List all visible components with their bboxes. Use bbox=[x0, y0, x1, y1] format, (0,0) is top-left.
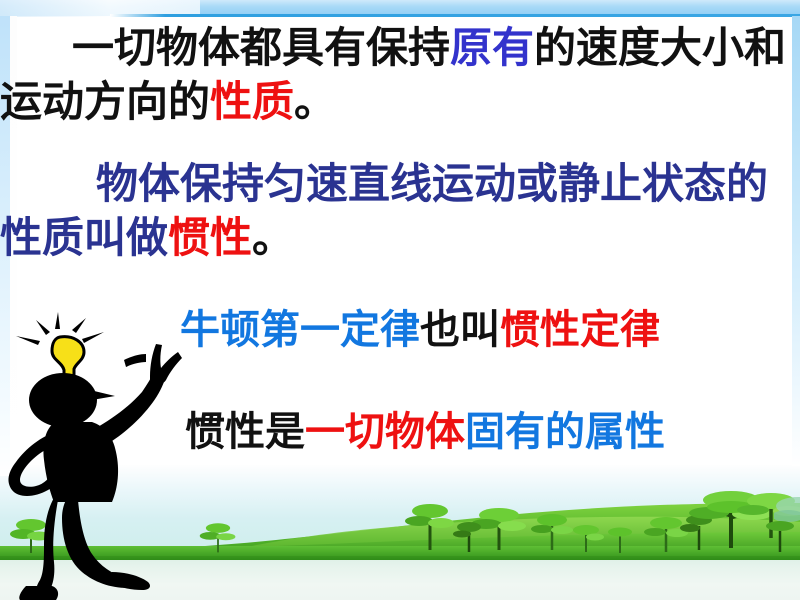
figure-left-foot bbox=[19, 586, 58, 600]
tree bbox=[452, 518, 486, 552]
p4-seg-0: 惯性是 bbox=[185, 409, 305, 454]
p3-seg-0: 牛顿第一定律 bbox=[180, 307, 420, 352]
newtons-first-law-line: 牛顿第一定律也叫惯性定律 bbox=[0, 306, 800, 354]
tree bbox=[760, 518, 800, 552]
tree bbox=[568, 522, 604, 552]
inertia-property-line: 惯性是一切物体固有的属性 bbox=[0, 408, 800, 456]
tree bbox=[604, 525, 636, 553]
p1-seg-0: 一切物体都具有保持 bbox=[72, 26, 450, 72]
p2-seg-2: 。 bbox=[252, 216, 294, 262]
p1-seg-1: 原有 bbox=[450, 26, 534, 72]
figure-right-foot bbox=[106, 572, 150, 590]
p2-seg-1: 惯性 bbox=[168, 216, 252, 262]
inertia-definition-2: 物体保持匀速直线运动或静止状态的性质叫做惯性。 bbox=[0, 158, 790, 266]
figure-left-leg bbox=[36, 498, 58, 598]
p3-seg-2: 惯性定律 bbox=[500, 307, 660, 352]
p2-seg-0: 物体保持匀速直线运动或静止状态的性质叫做 bbox=[0, 162, 768, 262]
p3-seg-1: 也叫 bbox=[420, 307, 500, 352]
tree bbox=[404, 498, 456, 550]
inertia-definition-1: 一切物体都具有保持原有的速度大小和运动方向的性质。 bbox=[0, 22, 790, 130]
text-block: 一切物体都具有保持原有的速度大小和运动方向的性质。 物体保持匀速直线运动或静止状… bbox=[0, 0, 800, 480]
p4-seg-2: 固有的属性 bbox=[465, 409, 665, 454]
slide-canvas: 一切物体都具有保持原有的速度大小和运动方向的性质。 物体保持匀速直线运动或静止状… bbox=[0, 0, 800, 600]
p1-seg-4: 。 bbox=[294, 80, 336, 126]
p1-seg-3: 性质 bbox=[210, 80, 294, 126]
p4-seg-1: 一切物体 bbox=[305, 409, 465, 454]
